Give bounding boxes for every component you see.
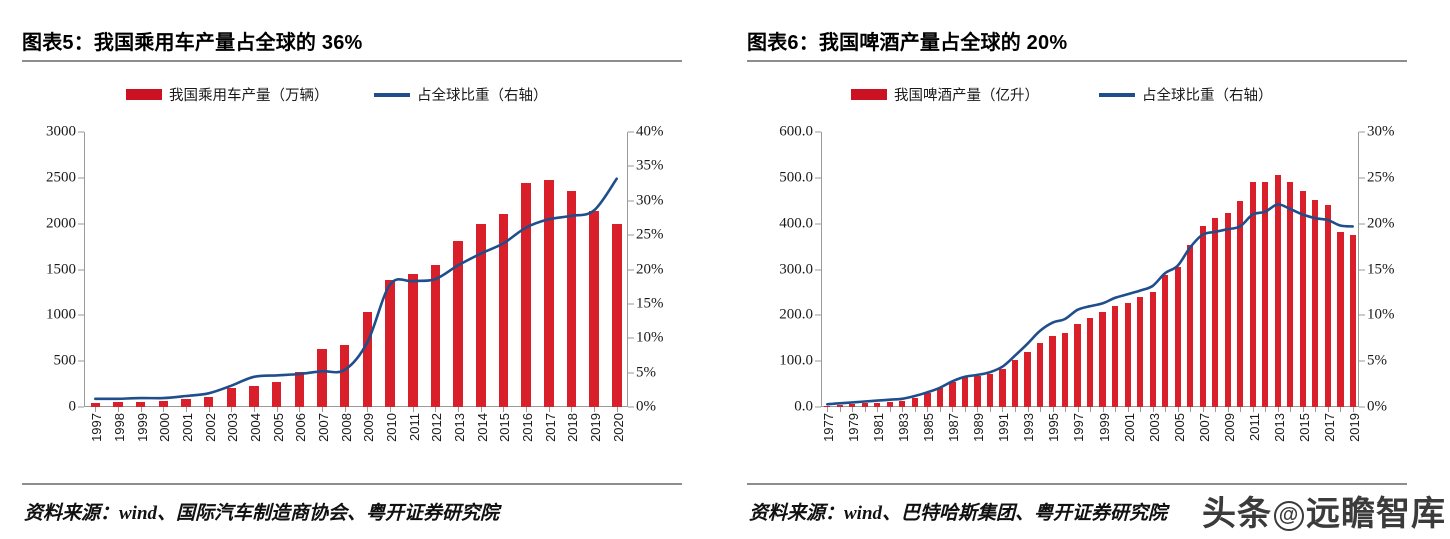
page-title-left: 图表5：我国乘用车产量占全球的 36% — [22, 26, 363, 55]
y-axis-right-primary: 0.0100.0200.0300.0400.0500.0600.0 — [747, 132, 813, 407]
chart-panel-left: 图表5：我国乘用车产量占全球的 36% 我国乘用车产量（万辆） 占全球比重（右轴… — [0, 0, 725, 539]
page-title-right: 图表6：我国啤酒产量占全球的 20% — [747, 26, 1067, 55]
x-tick-mark — [1203, 407, 1204, 412]
x-axis-label: 2017 — [543, 413, 558, 442]
x-axis-labels-left: 1997199819992000200120022003200420052006… — [84, 413, 628, 471]
x-tick-mark — [1103, 407, 1104, 412]
x-axis-label: 2015 — [497, 413, 512, 442]
x-tick-mark — [1253, 407, 1254, 412]
y2-tick-label: 30% — [1367, 124, 1395, 141]
x-tick-mark — [1178, 407, 1179, 412]
x-axis-label: 2020 — [611, 413, 626, 442]
legend-item-bar-right: 我国啤酒产量（亿升） — [851, 84, 1039, 105]
x-tick-mark — [413, 407, 414, 412]
footer-divider-right — [747, 483, 1407, 485]
x-axis-label: 2016 — [520, 413, 535, 442]
x-axis-label: 2000 — [157, 413, 172, 442]
x-tick-mark — [1053, 407, 1054, 412]
x-axis-label: 1981 — [871, 413, 886, 442]
legend-item-line-right: 占全球比重（右轴） — [1099, 84, 1273, 105]
x-tick-mark — [277, 407, 278, 412]
y-tick-label: 100.0 — [779, 353, 813, 370]
x-tick-mark — [1165, 407, 1166, 412]
y2-tick-mark — [628, 338, 634, 339]
y2-tick-label: 0% — [1367, 399, 1387, 416]
x-tick-mark — [927, 407, 928, 412]
x-axis-label: 1997 — [89, 413, 104, 442]
x-tick-mark — [1240, 407, 1241, 412]
x-tick-mark — [322, 407, 323, 412]
y2-tick-label: 5% — [636, 364, 656, 381]
x-axis-label: 2017 — [1322, 413, 1337, 442]
y-tick-label: 2500 — [46, 169, 76, 186]
y2-tick-mark — [628, 372, 634, 373]
x-tick-mark — [163, 407, 164, 412]
x-axis-label: 2010 — [384, 413, 399, 442]
x-axis-label: 1991 — [996, 413, 1011, 442]
y2-tick-mark — [1359, 177, 1365, 178]
x-tick-mark — [1040, 407, 1041, 412]
y2-tick-label: 0% — [636, 399, 656, 416]
x-tick-mark — [594, 407, 595, 412]
x-axis-label: 2003 — [225, 413, 240, 442]
title-divider-right — [747, 60, 1407, 62]
y-tick-label: 500 — [54, 353, 77, 370]
y-tick-label: 400.0 — [779, 215, 813, 232]
y-tick-label: 0.0 — [794, 399, 813, 416]
x-axis-label: 2013 — [452, 413, 467, 442]
x-axis-label: 2003 — [1147, 413, 1162, 442]
y2-tick-mark — [628, 132, 634, 133]
x-tick-mark — [458, 407, 459, 412]
x-tick-mark — [390, 407, 391, 412]
x-tick-mark — [367, 407, 368, 412]
y-tick-label: 1000 — [46, 307, 76, 324]
x-axis-label: 2011 — [407, 413, 422, 441]
x-axis-label: 2015 — [1297, 413, 1312, 442]
x-tick-mark — [1028, 407, 1029, 412]
x-axis-label: 2013 — [1272, 413, 1287, 442]
x-tick-mark — [1315, 407, 1316, 412]
x-axis-labels-right: 1977197919811983198519871989199119931995… — [821, 413, 1359, 471]
x-axis-label: 2007 — [1197, 413, 1212, 442]
x-tick-mark — [1128, 407, 1129, 412]
x-tick-mark — [254, 407, 255, 412]
x-tick-mark — [1328, 407, 1329, 412]
legend-label-bar: 我国啤酒产量（亿升） — [894, 84, 1039, 105]
y2-tick-label: 5% — [1367, 353, 1387, 370]
y-tick-label: 3000 — [46, 124, 76, 141]
x-tick-mark — [840, 407, 841, 412]
x-tick-mark — [1353, 407, 1354, 412]
trend-line — [95, 179, 616, 399]
x-tick-mark — [1002, 407, 1003, 412]
x-tick-mark — [186, 407, 187, 412]
y2-tick-mark — [628, 200, 634, 201]
y-tick-label: 200.0 — [779, 307, 813, 324]
plot-left: 050010001500200025003000 0%5%10%15%20%25… — [22, 132, 682, 472]
x-tick-mark — [940, 407, 941, 412]
x-tick-mark — [231, 407, 232, 412]
y2-tick-mark — [628, 407, 634, 408]
x-axis-label: 1997 — [1071, 413, 1086, 442]
x-axis-label: 2009 — [361, 413, 376, 442]
y2-tick-label: 20% — [1367, 215, 1395, 232]
x-tick-mark — [617, 407, 618, 412]
x-tick-mark — [345, 407, 346, 412]
y2-tick-label: 15% — [636, 295, 664, 312]
x-tick-mark — [1078, 407, 1079, 412]
x-tick-mark — [1290, 407, 1291, 412]
y2-tick-label: 30% — [636, 192, 664, 209]
y2-tick-mark — [1359, 132, 1365, 133]
chart-legend-left: 我国乘用车产量（万辆） 占全球比重（右轴） — [22, 84, 682, 108]
x-axis-label: 2008 — [339, 413, 354, 442]
y-tick-label: 600.0 — [779, 124, 813, 141]
x-tick-mark — [481, 407, 482, 412]
y2-tick-mark — [1359, 315, 1365, 316]
x-axis-label: 2011 — [1247, 413, 1262, 441]
y2-tick-label: 20% — [636, 261, 664, 278]
x-axis-label: 2019 — [588, 413, 603, 442]
legend-bar-swatch-icon — [126, 89, 162, 100]
x-axis-label: 2014 — [475, 413, 490, 442]
x-tick-mark — [865, 407, 866, 412]
x-tick-mark — [1278, 407, 1279, 412]
x-tick-mark — [1265, 407, 1266, 412]
y2-tick-mark — [628, 235, 634, 236]
x-tick-mark — [549, 407, 550, 412]
line-series-left — [84, 132, 628, 407]
x-axis-label: 2012 — [429, 413, 444, 442]
x-tick-mark — [952, 407, 953, 412]
y2-tick-label: 25% — [1367, 169, 1395, 186]
x-tick-mark — [1190, 407, 1191, 412]
y-axis-left-primary: 050010001500200025003000 — [22, 132, 76, 407]
x-axis-label: 1999 — [1097, 413, 1112, 442]
x-axis-label: 2019 — [1347, 413, 1362, 442]
x-tick-mark — [503, 407, 504, 412]
title-divider-left — [22, 60, 682, 62]
x-tick-mark — [1228, 407, 1229, 412]
x-axis-label: 1998 — [112, 413, 127, 442]
chart-panel-right: 图表6：我国啤酒产量占全球的 20% 我国啤酒产量（亿升） 占全球比重（右轴） … — [725, 0, 1450, 539]
legend-item-bar-left: 我国乘用车产量（万辆） — [126, 84, 329, 105]
y-axis-left-secondary: 0%5%10%15%20%25%30%35%40% — [636, 132, 682, 407]
y2-tick-mark — [1359, 223, 1365, 224]
y2-tick-mark — [1359, 269, 1365, 270]
x-axis-label: 1985 — [921, 413, 936, 442]
x-tick-mark — [902, 407, 903, 412]
x-tick-mark — [1115, 407, 1116, 412]
x-axis-label: 1987 — [946, 413, 961, 442]
x-tick-mark — [435, 407, 436, 412]
x-tick-mark — [1303, 407, 1304, 412]
x-tick-mark — [1015, 407, 1016, 412]
legend-bar-swatch-icon — [851, 89, 887, 100]
x-tick-mark — [1340, 407, 1341, 412]
x-axis-label: 1983 — [896, 413, 911, 442]
y2-tick-mark — [1359, 361, 1365, 362]
legend-label-line: 占全球比重（右轴） — [1142, 84, 1273, 105]
y2-tick-mark — [1359, 407, 1365, 408]
x-tick-mark — [526, 407, 527, 412]
x-axis-label: 1999 — [135, 413, 150, 442]
x-axis-label: 2006 — [293, 413, 308, 442]
x-tick-mark — [890, 407, 891, 412]
x-tick-mark — [977, 407, 978, 412]
x-tick-mark — [1065, 407, 1066, 412]
x-tick-mark — [852, 407, 853, 412]
x-tick-mark — [141, 407, 142, 412]
x-axis-label: 2005 — [1172, 413, 1187, 442]
trend-line — [827, 204, 1352, 404]
x-tick-mark — [1153, 407, 1154, 412]
y-tick-label: 300.0 — [779, 261, 813, 278]
x-tick-mark — [299, 407, 300, 412]
x-axis-label: 2005 — [271, 413, 286, 442]
x-axis-label: 1977 — [821, 413, 836, 442]
y2-tick-label: 25% — [636, 227, 664, 244]
x-axis-label: 1995 — [1046, 413, 1061, 442]
legend-line-swatch-icon — [374, 93, 410, 97]
x-tick-mark — [571, 407, 572, 412]
x-tick-mark — [1090, 407, 1091, 412]
x-axis-label: 2018 — [565, 413, 580, 442]
x-axis-label: 1979 — [846, 413, 861, 442]
x-tick-mark — [915, 407, 916, 412]
y2-tick-label: 35% — [636, 158, 664, 175]
plot-area-right — [821, 132, 1359, 407]
x-axis-label: 1989 — [971, 413, 986, 442]
x-axis-label: 2007 — [316, 413, 331, 442]
x-axis-label: 2002 — [203, 413, 218, 442]
line-series-right — [821, 132, 1359, 407]
x-tick-mark — [1215, 407, 1216, 412]
legend-item-line-left: 占全球比重（右轴） — [374, 84, 548, 105]
chart-legend-right: 我国啤酒产量（亿升） 占全球比重（右轴） — [747, 84, 1407, 108]
x-axis-label: 1993 — [1021, 413, 1036, 442]
source-note-right: 资料来源：wind、巴特哈斯集团、粤开证券研究院 — [749, 498, 1167, 525]
y-tick-label: 2000 — [46, 215, 76, 232]
x-tick-mark — [1140, 407, 1141, 412]
x-tick-mark — [209, 407, 210, 412]
legend-label-line: 占全球比重（右轴） — [417, 84, 548, 105]
source-note-left: 资料来源：wind、国际汽车制造商协会、粤开证券研究院 — [24, 498, 499, 525]
x-axis-label: 2009 — [1222, 413, 1237, 442]
x-axis-label: 2001 — [1122, 413, 1137, 442]
y-axis-right-secondary: 0%5%10%15%20%25%30% — [1367, 132, 1407, 407]
x-axis-label: 2001 — [180, 413, 195, 442]
x-tick-mark — [990, 407, 991, 412]
x-axis-label: 2004 — [248, 413, 263, 442]
figure-page: 图表5：我国乘用车产量占全球的 36% 我国乘用车产量（万辆） 占全球比重（右轴… — [0, 0, 1450, 539]
plot-area-left — [84, 132, 628, 407]
x-tick-mark — [95, 407, 96, 412]
y-tick-label: 0 — [69, 399, 77, 416]
x-tick-mark — [877, 407, 878, 412]
x-tick-mark — [965, 407, 966, 412]
plot-right: 0.0100.0200.0300.0400.0500.0600.0 0%5%10… — [747, 132, 1407, 472]
x-tick-mark — [827, 407, 828, 412]
y2-tick-label: 40% — [636, 124, 664, 141]
y-tick-label: 500.0 — [779, 169, 813, 186]
y2-tick-mark — [628, 166, 634, 167]
y2-tick-mark — [628, 269, 634, 270]
y2-tick-label: 10% — [636, 330, 664, 347]
footer-divider-left — [22, 483, 682, 485]
legend-label-bar: 我国乘用车产量（万辆） — [169, 84, 329, 105]
legend-line-swatch-icon — [1099, 93, 1135, 97]
y2-tick-label: 10% — [1367, 307, 1395, 324]
x-tick-mark — [118, 407, 119, 412]
y-tick-label: 1500 — [46, 261, 76, 278]
y2-tick-label: 15% — [1367, 261, 1395, 278]
y2-tick-mark — [628, 303, 634, 304]
